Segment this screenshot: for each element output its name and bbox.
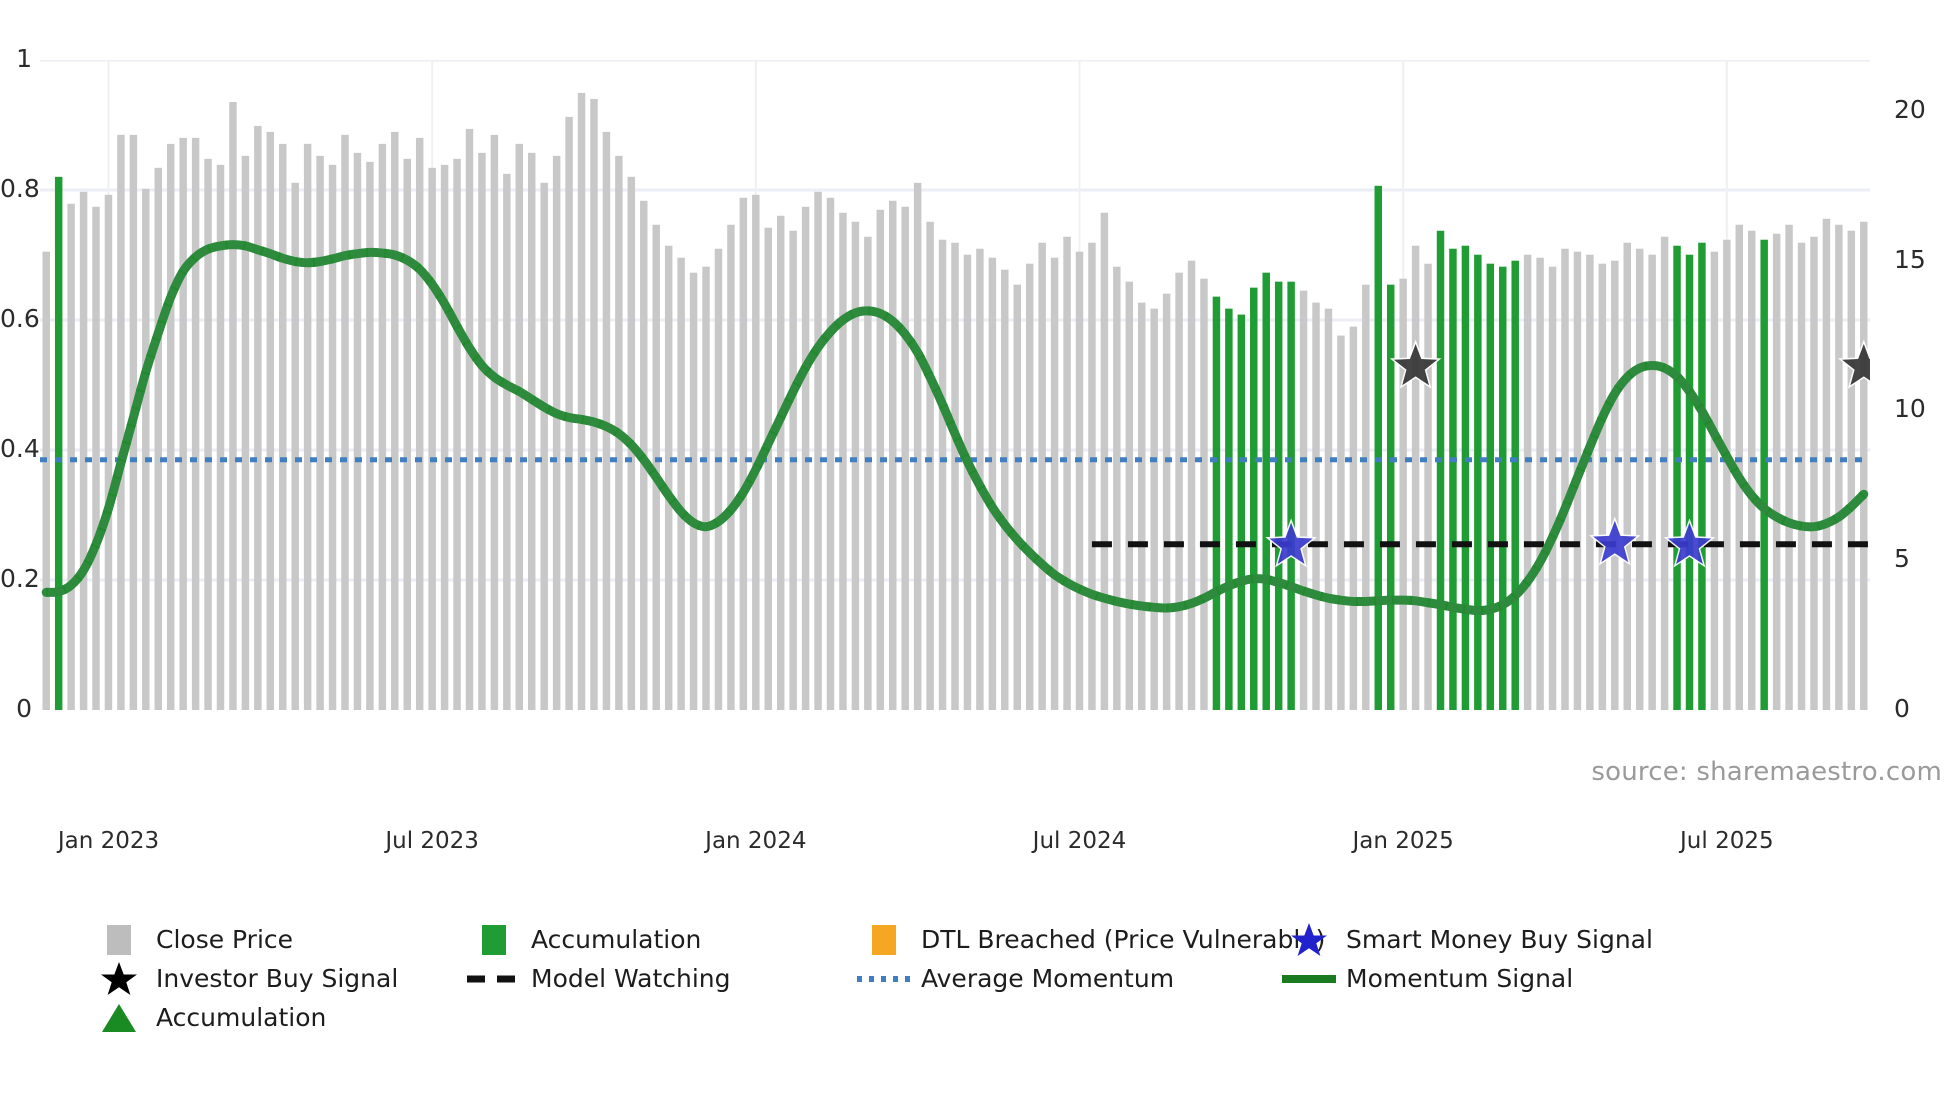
close-price-bar bbox=[354, 153, 361, 710]
y-axis-right-tick-label: 5 bbox=[1894, 544, 1954, 573]
x-axis-tick-label: Jul 2023 bbox=[332, 828, 532, 854]
close-price-bar bbox=[1001, 270, 1008, 710]
y-axis-left-tick-label: 1 bbox=[0, 44, 32, 73]
accumulation-bar bbox=[1499, 267, 1506, 710]
close-price-bar bbox=[142, 189, 149, 710]
close-price-bar bbox=[665, 246, 672, 710]
close-price-bar bbox=[92, 207, 99, 710]
close-price-bar bbox=[926, 222, 933, 710]
close-price-bar bbox=[1325, 309, 1332, 710]
swatch bbox=[872, 925, 896, 955]
legend-label: Accumulation bbox=[525, 925, 701, 954]
accumulation-bar bbox=[1287, 282, 1294, 710]
close-price-bar bbox=[553, 156, 560, 710]
close-price-bar bbox=[1624, 243, 1631, 710]
close-price-bar bbox=[1611, 261, 1618, 710]
close-price-bar bbox=[1648, 255, 1655, 710]
y-axis-left-tick-label: 0.4 bbox=[0, 434, 32, 463]
close-price-bar bbox=[1312, 303, 1319, 710]
legend-row: Close PriceAccumulationDTL Breached (Pri… bbox=[88, 920, 1938, 959]
close-price-bar bbox=[1798, 243, 1805, 710]
close-price-bar bbox=[677, 258, 684, 710]
close-price-bar bbox=[1823, 219, 1830, 710]
close-price-bar bbox=[528, 153, 535, 710]
close-price-bar bbox=[167, 144, 174, 710]
accumulation-bar bbox=[1511, 261, 1518, 710]
close-price-bar bbox=[428, 168, 435, 710]
close-price-bar bbox=[155, 168, 162, 710]
close-price-bar bbox=[491, 135, 498, 710]
close-price-bar bbox=[1337, 336, 1344, 710]
close-price-bar bbox=[1038, 243, 1045, 710]
close-price-bar bbox=[1661, 237, 1668, 710]
accumulation-bar bbox=[1449, 249, 1456, 710]
legend-label: Model Watching bbox=[525, 964, 731, 993]
y-axis-left-tick-label: 0.8 bbox=[0, 174, 32, 203]
close-price-bar bbox=[1188, 261, 1195, 710]
accumulation-bar bbox=[1225, 309, 1232, 710]
accumulation-bar bbox=[1673, 246, 1680, 710]
chart-svg bbox=[40, 60, 1870, 710]
close-price-bar bbox=[578, 93, 585, 710]
y-axis-left-tick-label: 0.2 bbox=[0, 564, 32, 593]
legend-label: Accumulation bbox=[150, 1003, 326, 1032]
close-price-bar bbox=[1126, 282, 1133, 710]
accumulation-bar bbox=[1213, 297, 1220, 710]
close-price-bar bbox=[204, 159, 211, 710]
close-price-bar bbox=[229, 102, 236, 710]
square-orange-swatch bbox=[853, 925, 915, 955]
close-price-bar bbox=[690, 273, 697, 710]
square-gray-swatch bbox=[88, 925, 150, 955]
accumulation-bar bbox=[1474, 255, 1481, 710]
close-price-bar bbox=[814, 192, 821, 710]
legend-label: Average Momentum bbox=[915, 964, 1174, 993]
accumulation-bar bbox=[1686, 255, 1693, 710]
y-axis-right-tick-label: 20 bbox=[1894, 95, 1954, 124]
close-price-bar bbox=[964, 255, 971, 710]
chart-plot-area bbox=[40, 60, 1870, 710]
legend-item[interactable]: Momentum Signal bbox=[1278, 959, 1573, 998]
close-price-bar bbox=[1549, 267, 1556, 710]
close-price-bar bbox=[379, 144, 386, 710]
close-price-bar bbox=[1536, 258, 1543, 710]
close-price-bar bbox=[341, 135, 348, 710]
close-price-bar bbox=[1599, 264, 1606, 710]
close-price-bar bbox=[727, 225, 734, 710]
close-price-bar bbox=[1150, 309, 1157, 710]
source-note: source: sharemaestro.com bbox=[1591, 757, 1942, 787]
close-price-bar bbox=[304, 144, 311, 710]
legend-label: Smart Money Buy Signal bbox=[1340, 925, 1653, 954]
accumulation-bar bbox=[1250, 288, 1257, 710]
y-axis-right-tick-label: 0 bbox=[1894, 694, 1954, 723]
close-price-bar bbox=[1586, 255, 1593, 710]
swatch bbox=[482, 925, 506, 955]
close-price-bar bbox=[765, 228, 772, 710]
accumulation-bar bbox=[55, 177, 62, 710]
x-axis-tick-label: Jul 2024 bbox=[979, 828, 1179, 854]
accumulation-bar bbox=[1262, 273, 1269, 710]
close-price-bar bbox=[1399, 279, 1406, 710]
chart-canvas bbox=[40, 60, 1870, 710]
solid-line-green bbox=[1278, 973, 1340, 985]
close-price-bar bbox=[279, 144, 286, 710]
legend-row: Accumulation bbox=[88, 998, 1938, 1037]
accumulation-bar bbox=[1375, 186, 1382, 710]
close-price-bar bbox=[466, 129, 473, 710]
legend-row: Investor Buy SignalModel WatchingAverage… bbox=[88, 959, 1938, 998]
close-price-bar bbox=[989, 258, 996, 710]
y-axis-right-tick-label: 15 bbox=[1894, 245, 1954, 274]
close-price-bar bbox=[1076, 252, 1083, 710]
close-price-bar bbox=[852, 222, 859, 710]
legend-item[interactable]: Close Price bbox=[88, 920, 293, 959]
close-price-bar bbox=[1113, 267, 1120, 710]
legend-item[interactable]: Average Momentum bbox=[853, 959, 1174, 998]
close-price-bar bbox=[1163, 294, 1170, 710]
close-price-bar bbox=[254, 126, 261, 710]
close-price-bar bbox=[329, 165, 336, 710]
accumulation-bar bbox=[1437, 231, 1444, 710]
close-price-bar bbox=[1748, 231, 1755, 710]
close-price-bar bbox=[1785, 225, 1792, 710]
close-price-bar bbox=[1524, 255, 1531, 710]
legend-item[interactable]: Investor Buy Signal bbox=[88, 959, 398, 998]
close-price-bar bbox=[404, 159, 411, 710]
y-axis-right-tick-label: 10 bbox=[1894, 394, 1954, 423]
close-price-bar bbox=[267, 132, 274, 710]
accumulation-bar bbox=[1760, 240, 1767, 710]
close-price-bar bbox=[889, 201, 896, 710]
close-price-bar bbox=[702, 267, 709, 710]
star-blue-marker bbox=[1278, 921, 1340, 959]
close-price-bar bbox=[80, 192, 87, 710]
legend-label: DTL Breached (Price Vulnerable) bbox=[915, 925, 1325, 954]
legend-label: Investor Buy Signal bbox=[150, 964, 398, 993]
close-price-bar bbox=[1200, 279, 1207, 710]
close-price-bar bbox=[740, 198, 747, 710]
close-price-bar bbox=[117, 135, 124, 710]
close-price-bar bbox=[540, 183, 547, 710]
close-price-bar bbox=[441, 165, 448, 710]
close-price-bar bbox=[1412, 246, 1419, 710]
star-black-marker bbox=[88, 960, 150, 998]
close-price-bar bbox=[914, 183, 921, 710]
close-price-bar bbox=[316, 156, 323, 710]
close-price-bar bbox=[1300, 291, 1307, 710]
legend-item[interactable]: Accumulation bbox=[88, 998, 326, 1037]
close-price-bar bbox=[752, 195, 759, 710]
accumulation-bar bbox=[1462, 246, 1469, 710]
x-axis-tick-label: Jan 2023 bbox=[8, 828, 208, 854]
close-price-bar bbox=[1362, 285, 1369, 710]
close-price-bar bbox=[1860, 222, 1867, 710]
close-price-bar bbox=[1014, 285, 1021, 710]
close-price-bar bbox=[951, 243, 958, 710]
y-axis-left-tick-label: 0.6 bbox=[0, 304, 32, 333]
close-price-bar bbox=[777, 216, 784, 710]
close-price-bar bbox=[179, 138, 186, 710]
close-price-bar bbox=[478, 153, 485, 710]
close-price-bar bbox=[1350, 327, 1357, 710]
close-price-bar bbox=[1773, 234, 1780, 710]
accumulation-bar bbox=[1238, 315, 1245, 710]
accumulation-bar bbox=[1487, 264, 1494, 710]
legend-item[interactable]: Smart Money Buy Signal bbox=[1278, 920, 1653, 959]
close-price-bar bbox=[366, 162, 373, 710]
close-price-bar bbox=[42, 252, 49, 710]
close-price-bar bbox=[391, 132, 398, 710]
close-price-bar bbox=[1636, 249, 1643, 710]
close-price-bar bbox=[1088, 243, 1095, 710]
close-price-bar bbox=[1835, 225, 1842, 710]
close-price-bar bbox=[67, 204, 74, 710]
close-price-bar bbox=[516, 144, 523, 710]
close-price-bar bbox=[192, 138, 199, 710]
legend-item[interactable]: DTL Breached (Price Vulnerable) bbox=[853, 920, 1325, 959]
swatch bbox=[107, 925, 131, 955]
close-price-bar bbox=[1810, 237, 1817, 710]
legend-label: Close Price bbox=[150, 925, 293, 954]
close-price-bar bbox=[1026, 264, 1033, 710]
square-green-swatch bbox=[463, 925, 525, 955]
x-axis-tick-label: Jan 2025 bbox=[1303, 828, 1503, 854]
close-price-bar bbox=[1138, 303, 1145, 710]
legend-item[interactable]: Model Watching bbox=[463, 959, 731, 998]
chart-legend: Close PriceAccumulationDTL Breached (Pri… bbox=[88, 920, 1938, 1037]
x-axis-tick-label: Jan 2024 bbox=[656, 828, 856, 854]
accumulation-bar bbox=[1698, 243, 1705, 710]
close-price-bar bbox=[242, 156, 249, 710]
close-price-bar bbox=[105, 195, 112, 710]
close-price-bar bbox=[939, 240, 946, 710]
x-axis-tick-label: Jul 2025 bbox=[1627, 828, 1827, 854]
close-price-bar bbox=[416, 138, 423, 710]
y-axis-left-tick-label: 0 bbox=[0, 694, 32, 723]
dashed-line-black bbox=[463, 972, 525, 986]
close-price-bar bbox=[1424, 264, 1431, 710]
close-price-bar bbox=[1848, 231, 1855, 710]
accumulation-bar bbox=[1275, 282, 1282, 710]
close-price-bar bbox=[1711, 252, 1718, 710]
legend-item[interactable]: Accumulation bbox=[463, 920, 701, 959]
close-price-bar bbox=[590, 99, 597, 710]
close-price-bar bbox=[503, 174, 510, 710]
close-price-bar bbox=[1561, 249, 1568, 710]
close-price-bar bbox=[1051, 258, 1058, 710]
dotted-line-blue bbox=[853, 973, 915, 985]
close-price-bar bbox=[827, 198, 834, 710]
close-price-bar bbox=[789, 231, 796, 710]
close-price-bar bbox=[901, 207, 908, 710]
close-price-bar bbox=[1063, 237, 1070, 710]
triangle-green-marker bbox=[88, 1001, 150, 1035]
accumulation-bar bbox=[1387, 285, 1394, 710]
close-price-bar bbox=[1723, 240, 1730, 710]
close-price-bar bbox=[453, 159, 460, 710]
legend-label: Momentum Signal bbox=[1340, 964, 1573, 993]
close-price-bar bbox=[1175, 273, 1182, 710]
close-price-bar bbox=[715, 249, 722, 710]
